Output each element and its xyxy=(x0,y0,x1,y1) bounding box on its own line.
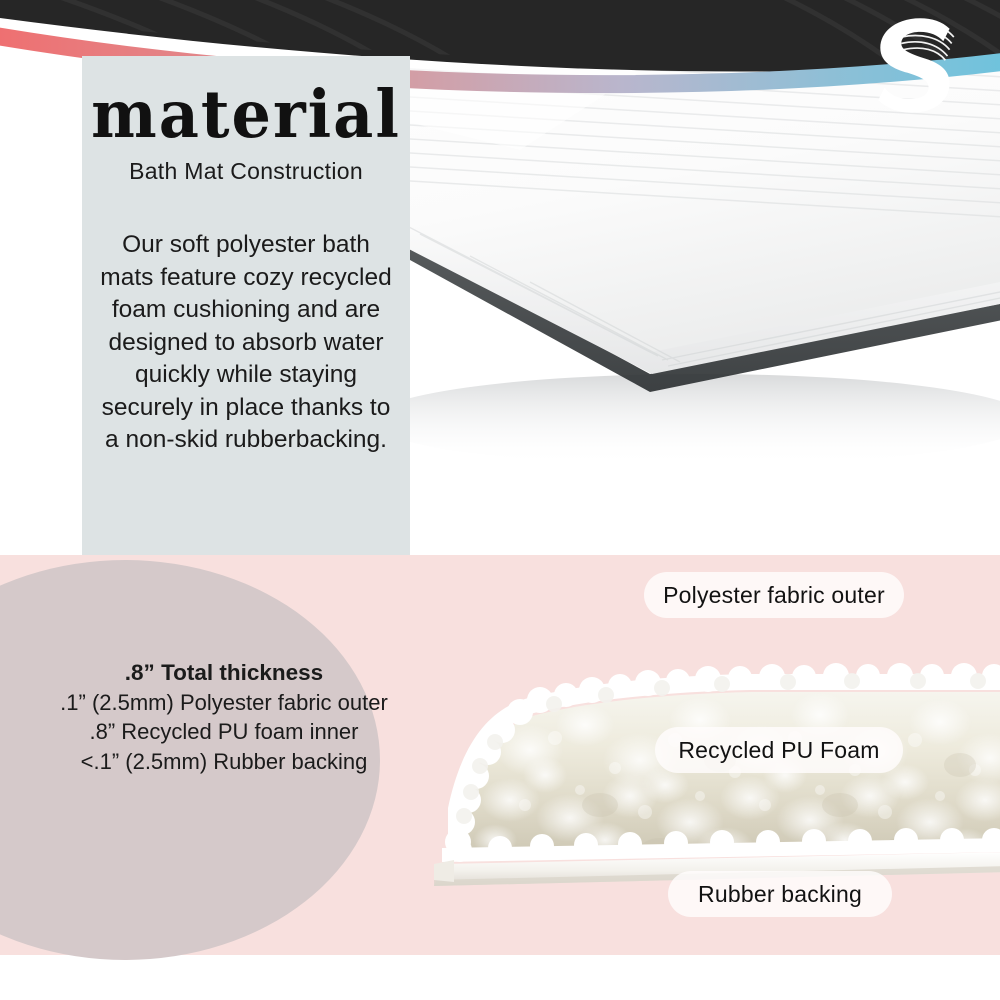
spec-line-foam: .8” Recycled PU foam inner xyxy=(28,717,420,746)
description-paragraph: Our soft polyester bath mats feature coz… xyxy=(96,229,396,457)
spec-line-rubber: <.1” (2.5mm) Rubber backing xyxy=(28,747,420,776)
thickness-spec-block: .8” Total thickness .1” (2.5mm) Polyeste… xyxy=(28,658,420,776)
page-title: material xyxy=(82,82,410,148)
infographic-canvas: material Bath Mat Construction Our soft … xyxy=(0,0,1000,1000)
left-info-panel: material Bath Mat Construction Our soft … xyxy=(82,56,410,556)
left-panel-content: material Bath Mat Construction Our soft … xyxy=(82,56,410,457)
spec-heading: .8” Total thickness xyxy=(28,658,420,688)
callout-polyester-fabric-outer: Polyester fabric outer xyxy=(644,572,904,618)
callout-rubber-backing: Rubber backing xyxy=(668,871,892,917)
spec-line-fabric: .1” (2.5mm) Polyester fabric outer xyxy=(28,688,420,717)
callout-recycled-pu-foam: Recycled PU Foam xyxy=(655,727,903,773)
page-subtitle: Bath Mat Construction xyxy=(82,158,410,185)
